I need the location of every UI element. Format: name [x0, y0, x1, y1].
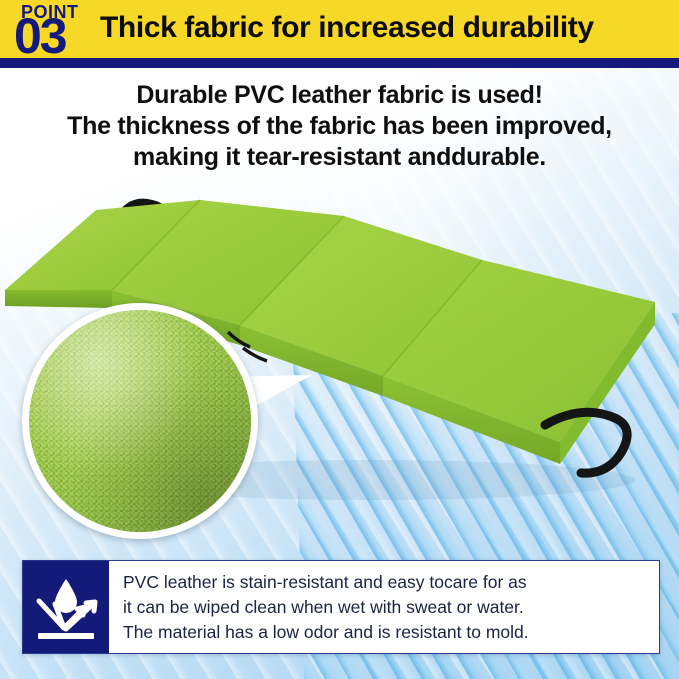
headline-line-1: Durable PVC leather fabric is used! — [0, 80, 679, 111]
infographic-page: POINT 03 Thick fabric for increased dura… — [0, 0, 679, 679]
feature-caption-box: PVC leather is stain-resistant and easy … — [22, 560, 660, 654]
headline-line-2: The thickness of the fabric has been imp… — [0, 111, 679, 142]
headline-block: Durable PVC leather fabric is used! The … — [0, 80, 679, 173]
caption-line-1: PVC leather is stain-resistant and easy … — [123, 570, 651, 595]
point-number: 03 — [14, 11, 66, 61]
feature-caption-text: PVC leather is stain-resistant and easy … — [109, 561, 659, 653]
point-badge: POINT 03 — [14, 1, 100, 67]
callout-fabric-surface — [29, 310, 251, 532]
caption-line-3: The material has a low odor and is resis… — [123, 620, 651, 645]
caption-line-2: it can be wiped clean when wet with swea… — [123, 595, 651, 620]
water-repellent-icon — [33, 571, 99, 643]
fabric-closeup-callout — [22, 303, 258, 539]
fabric-shading — [29, 310, 251, 532]
header-rule — [0, 58, 679, 68]
banner-title: Thick fabric for increased durability — [100, 11, 594, 45]
water-repellent-icon-panel — [23, 561, 109, 653]
headline-line-3: making it tear-resistant anddurable. — [0, 142, 679, 173]
